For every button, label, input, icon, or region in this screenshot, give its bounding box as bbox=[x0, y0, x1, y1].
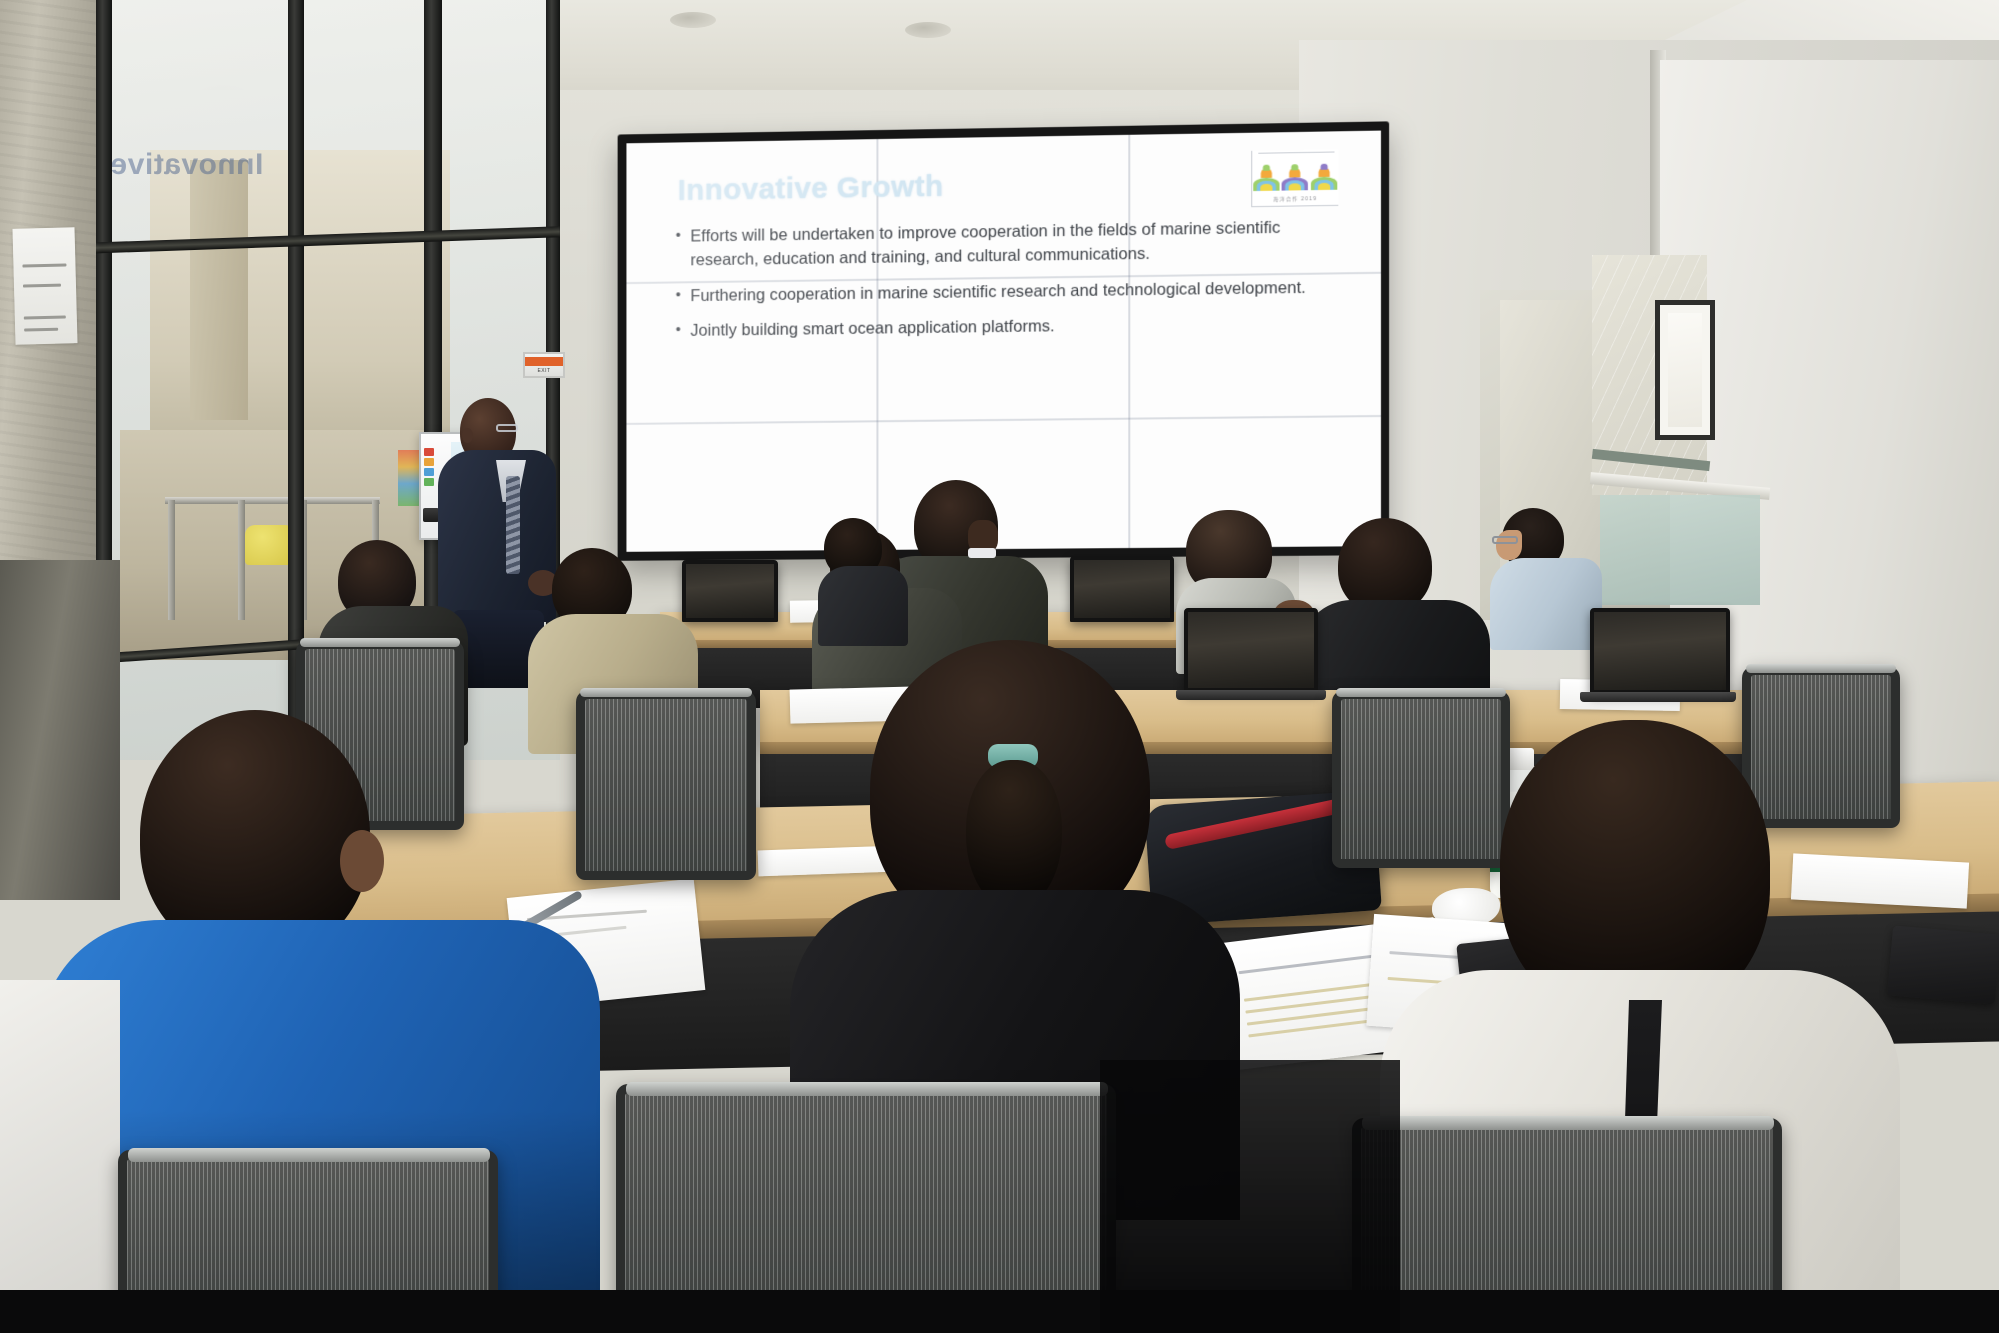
panel-seam bbox=[626, 415, 1381, 425]
white-garment bbox=[0, 980, 120, 1333]
whiteboard-eraser bbox=[423, 508, 439, 522]
foreground-shadow bbox=[1100, 1060, 1400, 1333]
slide-bullet-list: Efforts will be undertaken to improve co… bbox=[674, 216, 1320, 356]
chair-top-rail bbox=[300, 638, 460, 647]
person-attendee-small-left bbox=[818, 518, 908, 638]
necktie bbox=[506, 476, 520, 574]
floor-shadow bbox=[0, 1290, 1999, 1333]
wristwatch bbox=[968, 548, 996, 558]
tablet-device[interactable] bbox=[1887, 925, 1999, 1004]
notice-text-line bbox=[23, 284, 61, 288]
slide-title: Innovative Growth bbox=[678, 170, 944, 208]
logo-divider bbox=[1258, 152, 1334, 154]
office-chair[interactable] bbox=[576, 690, 756, 880]
logo-motif bbox=[1310, 155, 1339, 190]
exit-sign: EXIT bbox=[523, 352, 565, 378]
slide-bullet: Furthering cooperation in marine scienti… bbox=[674, 276, 1320, 308]
exit-sign-bar bbox=[525, 357, 563, 366]
alcove-glass-panel bbox=[1600, 495, 1760, 605]
interior-window bbox=[1655, 300, 1715, 440]
marker-green bbox=[424, 478, 434, 486]
logo-motif bbox=[1281, 156, 1310, 191]
logo-caption: 海洋合作 2019 bbox=[1252, 195, 1338, 203]
logo-artwork bbox=[1252, 155, 1338, 191]
marker-red bbox=[424, 448, 434, 456]
slide-bullet: Efforts will be undertaken to improve co… bbox=[674, 216, 1320, 273]
conference-room-photo: Innovative serts en nu atio elop nam Inn… bbox=[0, 0, 1999, 1333]
face bbox=[1496, 530, 1522, 560]
corridor-railing bbox=[165, 497, 380, 504]
railing-post bbox=[168, 500, 175, 620]
slide-bullet: Jointly building smart ocean application… bbox=[674, 312, 1320, 344]
notice-text-line bbox=[24, 328, 58, 332]
exit-sign-label: EXIT bbox=[525, 368, 563, 374]
torso bbox=[1490, 558, 1602, 650]
notice-text-line bbox=[22, 263, 66, 267]
notice-text-line bbox=[24, 315, 66, 319]
chair-top-rail bbox=[1746, 664, 1896, 673]
ceiling-light-icon bbox=[670, 12, 716, 28]
laptop-base[interactable] bbox=[1580, 692, 1736, 702]
railing-post bbox=[238, 500, 245, 620]
torso bbox=[818, 566, 908, 646]
laptop-screen[interactable] bbox=[1590, 608, 1730, 694]
ear bbox=[462, 428, 473, 443]
corridor-column bbox=[190, 160, 248, 420]
laptop-screen[interactable] bbox=[1070, 556, 1174, 622]
marker-orange bbox=[424, 458, 434, 466]
ponytail bbox=[966, 760, 1062, 910]
chair-top-rail bbox=[1362, 1116, 1774, 1130]
chair-top-rail bbox=[626, 1082, 1108, 1096]
marker-blue bbox=[424, 468, 434, 476]
paper-line bbox=[1239, 953, 1388, 974]
organization-logo: 海洋合作 2019 bbox=[1251, 149, 1338, 207]
chair-top-rail bbox=[580, 688, 752, 697]
eyeglasses-icon bbox=[1492, 536, 1518, 544]
chair-top-rail bbox=[128, 1148, 490, 1162]
eyeglasses-icon bbox=[496, 424, 518, 432]
ceiling-light-icon bbox=[905, 22, 951, 38]
chair-top-rail bbox=[1336, 688, 1506, 697]
logo-motif bbox=[1252, 156, 1281, 191]
posted-notice bbox=[12, 227, 77, 345]
ear bbox=[340, 830, 384, 892]
marker-tray bbox=[424, 448, 434, 500]
